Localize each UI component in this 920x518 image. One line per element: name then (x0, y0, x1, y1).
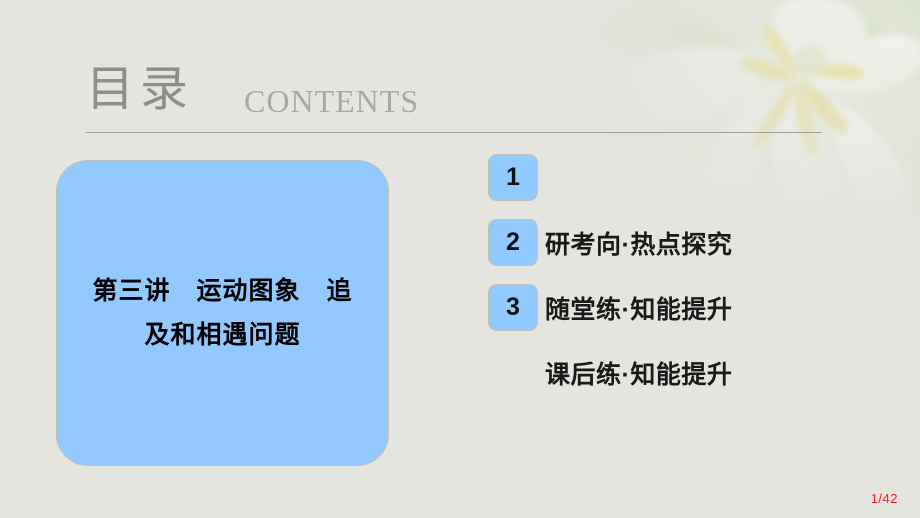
toc-item-3[interactable]: 3 随堂练·知能提升 (488, 284, 888, 331)
toc-badge-placeholder-4 (488, 349, 538, 396)
header-divider (86, 132, 822, 133)
toc-item-4[interactable]: 课后练·知能提升 (488, 349, 888, 396)
slide-canvas: 目录 CONTENTS 第三讲 运动图象 追 及和相遇问题 1 2 研考向·热点… (0, 0, 920, 518)
toc-item-2[interactable]: 2 研考向·热点探究 (488, 219, 888, 266)
chapter-title-text: 第三讲 运动图象 追 及和相遇问题 (78, 269, 368, 357)
toc-number-badge-2: 2 (488, 219, 538, 266)
slide-header: 目录 CONTENTS (86, 62, 826, 140)
page-title-en: CONTENTS (244, 82, 419, 120)
toc-label-2: 研考向·热点探究 (545, 225, 732, 261)
toc-label-3: 随堂练·知能提升 (545, 290, 732, 326)
table-of-contents: 1 2 研考向·热点探究 3 随堂练·知能提升 课后练·知能提升 (488, 154, 888, 414)
page-title-cn: 目录 (86, 62, 194, 118)
chapter-title-line-1: 第三讲 运动图象 追 (92, 277, 352, 305)
toc-item-1[interactable]: 1 (488, 154, 888, 201)
toc-label-4: 课后练·知能提升 (545, 355, 732, 391)
page-number: 1/42 (871, 491, 898, 506)
chapter-title-card[interactable]: 第三讲 运动图象 追 及和相遇问题 (56, 160, 389, 466)
toc-number-badge-1: 1 (488, 154, 538, 201)
toc-number-badge-3: 3 (488, 284, 538, 331)
chapter-title-line-2: 及和相遇问题 (78, 313, 368, 357)
